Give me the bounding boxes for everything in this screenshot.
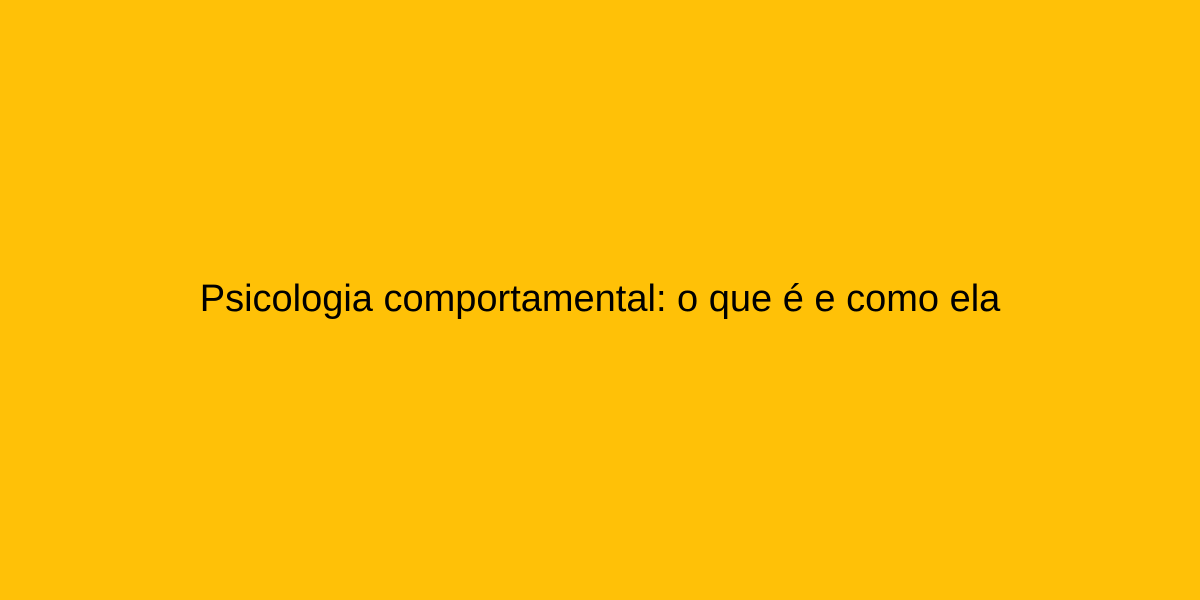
page-title: Psicologia comportamental: o que é e com… [40,276,1160,324]
share-preview-card: Psicologia comportamental: o que é e com… [0,0,1200,600]
card-body: Psicologia comportamental: o que é e com… [0,276,1200,324]
